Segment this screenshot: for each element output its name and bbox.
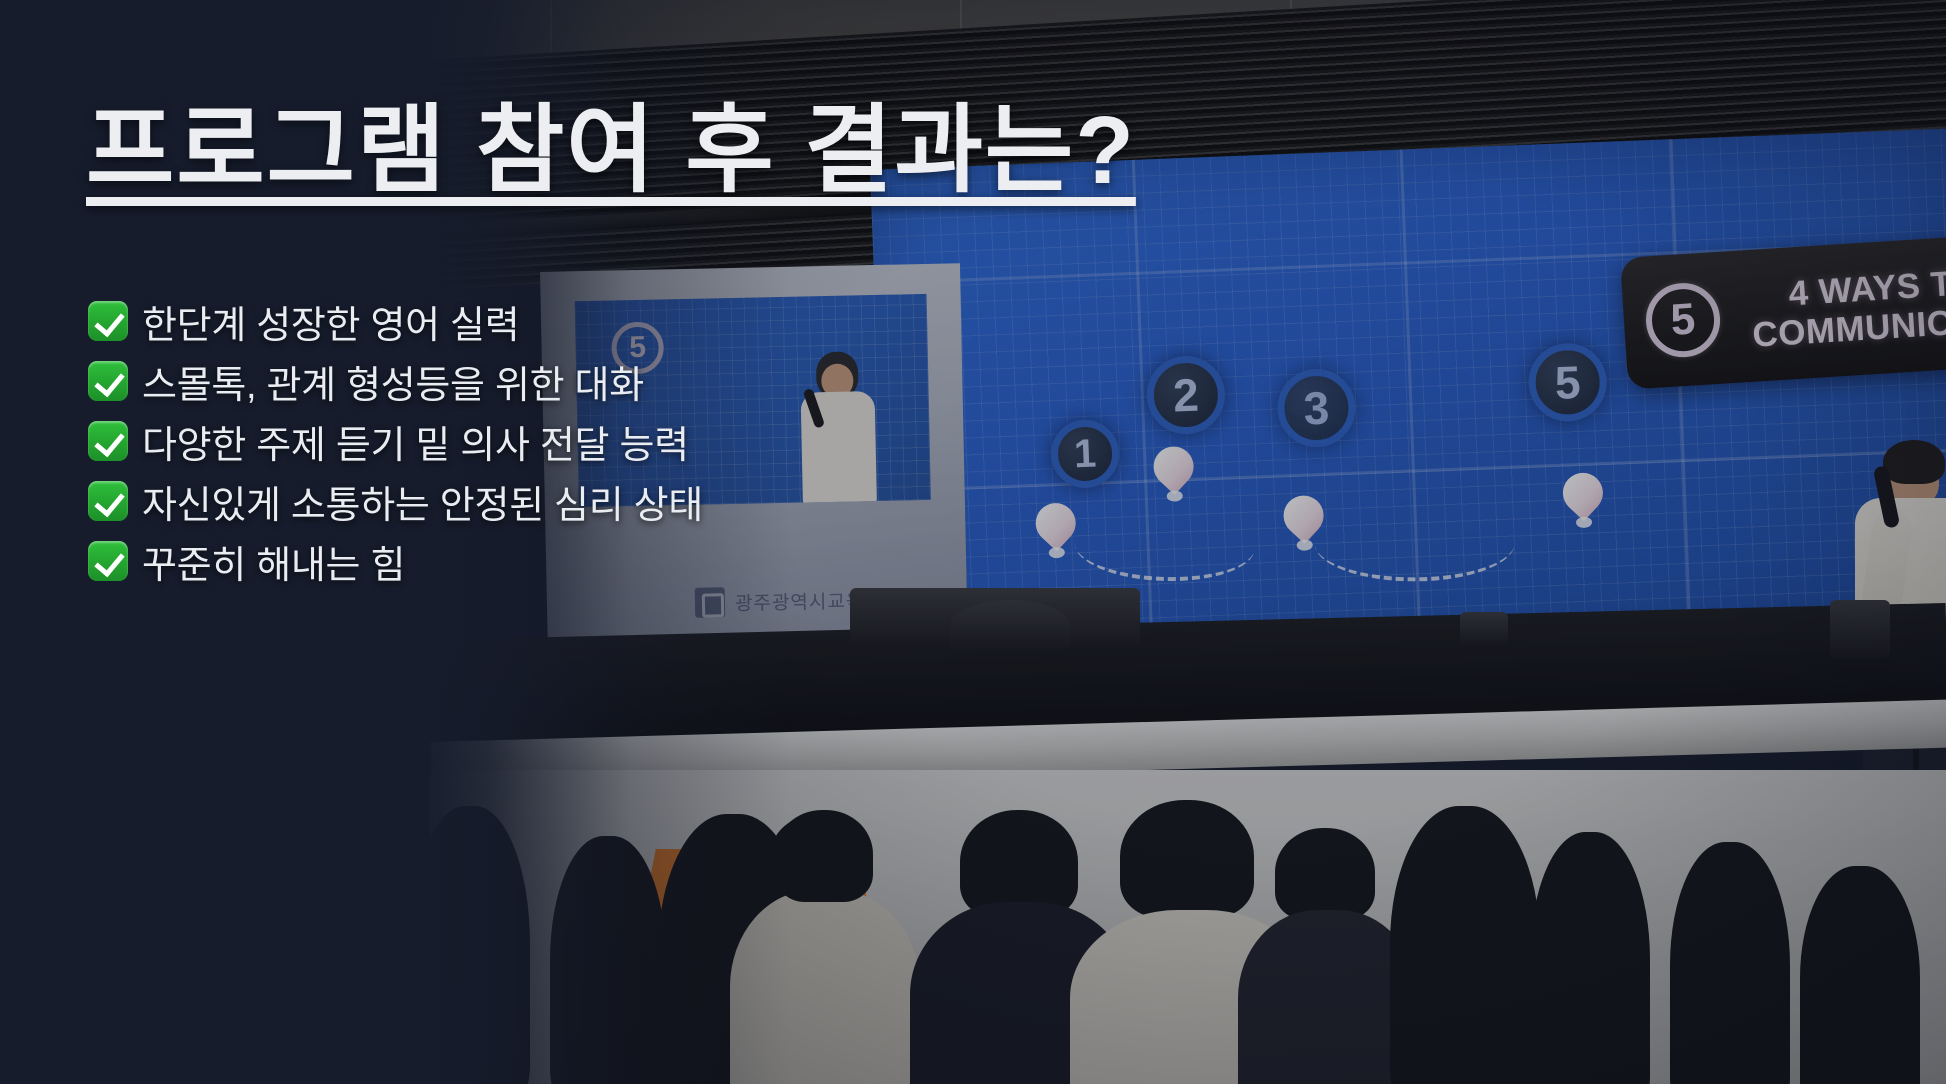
check-mark-button-icon <box>88 301 128 341</box>
audience-head <box>1390 806 1540 1084</box>
marker-label: 3 <box>1303 381 1331 436</box>
list-item: 자신있게 소통하는 안정된 심리 상태 <box>88 472 703 530</box>
map-pin-icon <box>1562 472 1604 525</box>
audience-shoulders <box>730 890 920 1084</box>
list-item: 한단계 성장한 영어 실력 <box>88 292 703 350</box>
marker-label: 5 <box>1554 355 1582 410</box>
marker-coin-1: 1 <box>1050 419 1121 490</box>
marker-label: 2 <box>1172 368 1200 423</box>
banner-headline: 4 WAYS TO BECOME A COMMUNICATION MASTER <box>1733 246 1946 356</box>
list-item-label: 꾸준히 해내는 힘 <box>142 534 405 589</box>
marker-coin-2: 2 <box>1145 355 1226 436</box>
marker-coin-5: 5 <box>1527 342 1608 423</box>
check-mark-button-icon <box>88 481 128 521</box>
audience-head <box>430 806 530 1084</box>
audience-head <box>1120 800 1254 918</box>
banner-number-badge: 5 <box>1644 281 1723 360</box>
back-wall: MA P <box>430 770 1946 1084</box>
marker-label: 1 <box>1073 431 1097 477</box>
list-item-label: 스몰톡, 관계 형성등을 위한 대화 <box>142 354 644 409</box>
stage-monitor <box>950 600 1070 652</box>
list-item-label: 자신있게 소통하는 안정된 심리 상태 <box>142 474 703 529</box>
dashed-connector <box>1074 508 1256 584</box>
audience-head <box>1530 832 1650 1084</box>
map-pin-icon <box>1153 446 1195 499</box>
stage-light <box>1830 600 1890 658</box>
list-item: 꾸준히 해내는 힘 <box>88 532 703 590</box>
side-screen-speaker <box>798 351 879 503</box>
check-mark-button-icon <box>88 421 128 461</box>
audience-head <box>1670 842 1790 1084</box>
list-item: 스몰톡, 관계 형성등을 위한 대화 <box>88 352 703 410</box>
list-item-label: 한단계 성장한 영어 실력 <box>142 294 519 349</box>
audience-head <box>1800 866 1920 1084</box>
check-mark-button-icon <box>88 541 128 581</box>
checklist: 한단계 성장한 영어 실력 스몰톡, 관계 형성등을 위한 대화 다양한 주제 … <box>88 292 703 592</box>
dashed-connector <box>1315 505 1515 582</box>
audience-head <box>775 810 873 902</box>
check-mark-button-icon <box>88 361 128 401</box>
presentation-slide: 1 2 3 5 <box>0 0 1946 1084</box>
map-pin-icon <box>1035 502 1077 555</box>
list-item-label: 다양한 주제 듣기 밑 의사 전달 능력 <box>142 414 689 469</box>
marker-coin-3: 3 <box>1276 368 1357 449</box>
audience-head <box>1275 828 1375 920</box>
page-title: 프로그램 참여 후 결과는? <box>86 72 1136 211</box>
stage-light <box>1460 612 1508 646</box>
audience-head <box>550 836 666 1084</box>
list-item: 다양한 주제 듣기 밑 의사 전달 능력 <box>88 412 703 470</box>
